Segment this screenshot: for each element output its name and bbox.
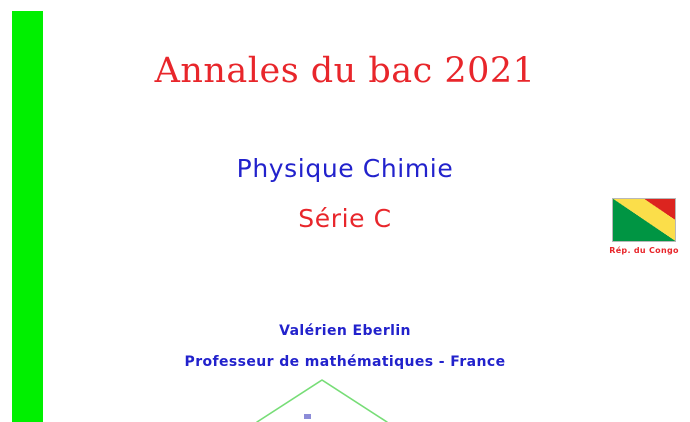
- series-heading: Série C: [60, 203, 630, 235]
- flag-band-green: [613, 199, 675, 241]
- author-name: Valérien Eberlin: [60, 322, 630, 341]
- subject-heading: Physique Chimie: [60, 153, 630, 185]
- cover-page: Annales du bac 2021 Physique Chimie Séri…: [0, 0, 690, 422]
- page-title: Annales du bac 2021: [60, 49, 630, 93]
- blue-mark: [304, 414, 311, 419]
- flag-caption: Rép. du Congo: [608, 246, 680, 255]
- flag-block: Rép. du Congo: [608, 198, 680, 255]
- left-green-band: [12, 11, 43, 422]
- author-role: Professeur de mathématiques - France: [60, 353, 630, 372]
- chevron-outline-icon: [255, 376, 395, 422]
- congo-flag-icon: [612, 198, 676, 242]
